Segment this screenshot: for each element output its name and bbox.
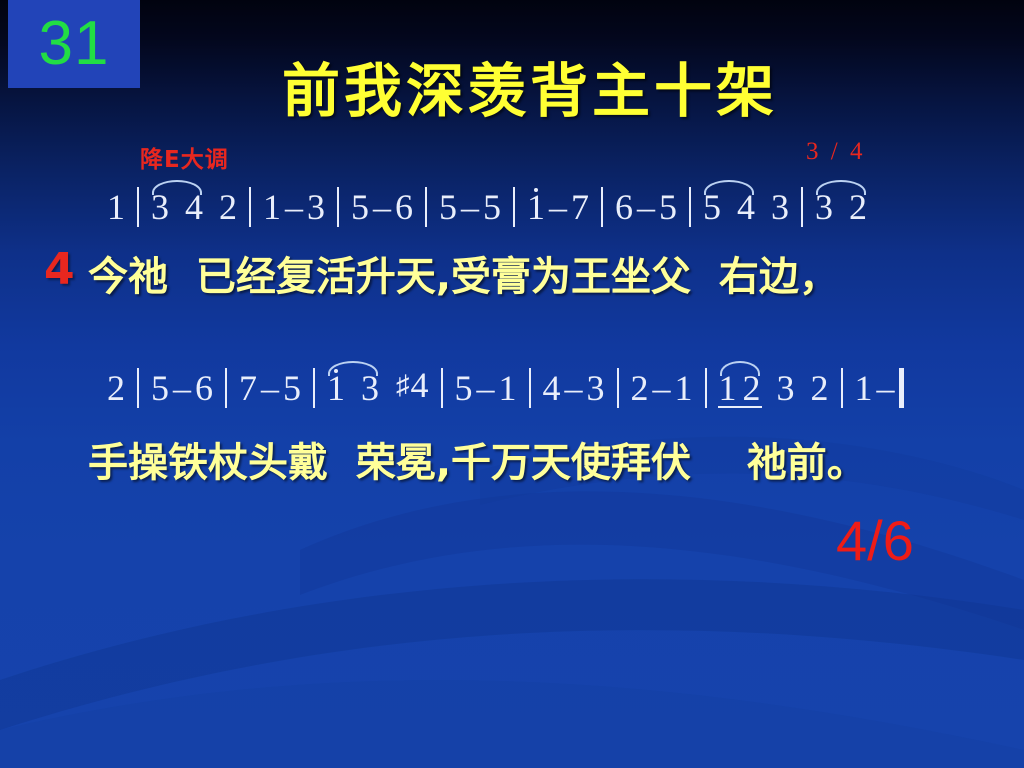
- note-sustain-dash: –: [652, 367, 672, 409]
- note-sustain-dash: –: [284, 186, 304, 228]
- sharp-accidental-icon: ♯: [395, 364, 411, 406]
- note-numeral: 2: [628, 367, 652, 409]
- lyrics-line-1: 今祂 已经复活升天,受膏为王坐父 右边，: [88, 244, 839, 302]
- barline: [705, 368, 707, 408]
- note-numeral: 4: [182, 186, 206, 228]
- note-numeral: 7: [236, 367, 260, 409]
- barline: [801, 187, 803, 227]
- measure: 6–5: [612, 186, 680, 228]
- time-signature-label: 3 / 4: [806, 138, 865, 166]
- note-sustain-dash: –: [476, 367, 496, 409]
- measure: 2–1: [628, 367, 696, 409]
- note-numeral: 5: [280, 367, 304, 409]
- note-sustain-dash: –: [260, 367, 280, 409]
- note-sustain-dash: –: [548, 186, 568, 228]
- note-numeral: 2: [216, 186, 240, 228]
- measure: 7–5: [236, 367, 304, 409]
- page-title: 前我深羡背主十架: [0, 44, 1024, 128]
- slur-group: 13: [324, 367, 382, 409]
- barline: [425, 187, 427, 227]
- measure: 5–1: [452, 367, 520, 409]
- note-numeral: 1: [496, 367, 520, 409]
- final-double-barline: [899, 368, 904, 408]
- note-numeral: 5: [348, 186, 372, 228]
- note-sustain-dash: –: [876, 367, 896, 409]
- barline: [249, 187, 251, 227]
- note-numeral: 6: [612, 186, 636, 228]
- slur-group: 32: [812, 186, 870, 228]
- note-numeral: 6: [192, 367, 216, 409]
- measure: 13♯4: [324, 364, 432, 409]
- note-numeral: 3: [812, 186, 836, 228]
- note-numeral: 2: [104, 367, 128, 409]
- note-numeral: 1: [324, 367, 348, 409]
- notation-line-1: 13421–35–65–51–76–554332: [0, 186, 1024, 228]
- measure: 5–5: [436, 186, 504, 228]
- note-numeral: 5: [656, 186, 680, 228]
- note-numeral: 2: [808, 367, 832, 409]
- barline: [313, 368, 315, 408]
- barline: [137, 368, 139, 408]
- octave-dot-icon: [334, 369, 338, 373]
- note-numeral: 5: [480, 186, 504, 228]
- barline: [689, 187, 691, 227]
- measure: 5–6: [348, 186, 416, 228]
- note-numeral: 1: [716, 367, 740, 409]
- measure: 4–3: [540, 367, 608, 409]
- measure: 342: [148, 186, 240, 228]
- note-sustain-dash: –: [460, 186, 480, 228]
- verse-number: 4: [44, 244, 75, 295]
- page-counter: 4/6: [836, 508, 914, 573]
- barline: [513, 187, 515, 227]
- octave-dot-icon: [534, 188, 538, 192]
- note-numeral: 6: [392, 186, 416, 228]
- note-numeral: 3: [768, 186, 792, 228]
- barline: [137, 187, 139, 227]
- barline: [601, 187, 603, 227]
- note-numeral: 4: [734, 186, 758, 228]
- note-numeral: 3: [304, 186, 328, 228]
- measure: 1232: [716, 367, 832, 409]
- slur-group: 34: [148, 186, 206, 228]
- note-numeral: 3: [148, 186, 172, 228]
- measure: 1–7: [524, 186, 592, 228]
- barline: [225, 368, 227, 408]
- barline: [529, 368, 531, 408]
- slur-group: 54: [700, 186, 758, 228]
- measure: 5–6: [148, 367, 216, 409]
- barline: [337, 187, 339, 227]
- lyrics-line-2: 手操铁杖头戴 荣冕,千万天使拜伏 祂前。: [88, 430, 867, 488]
- slur-group: 12: [716, 367, 764, 409]
- barline: [441, 368, 443, 408]
- measure: 1–: [852, 367, 896, 409]
- note-numeral: 3: [774, 367, 798, 409]
- note-sustain-dash: –: [372, 186, 392, 228]
- key-signature-label: 降E大调: [140, 140, 229, 174]
- note-numeral: 7: [568, 186, 592, 228]
- note-numeral: 1: [852, 367, 876, 409]
- note-numeral: 1: [260, 186, 284, 228]
- note-numeral: ♯4: [392, 364, 432, 409]
- beam-group: 12: [716, 367, 764, 409]
- note-numeral: 5: [436, 186, 460, 228]
- barline: [617, 368, 619, 408]
- barline: [841, 368, 843, 408]
- note-numeral: 3: [358, 367, 382, 409]
- note-numeral: 1: [104, 186, 128, 228]
- note-numeral: 3: [584, 367, 608, 409]
- notation-line-2: 25–67–513♯45–14–32–112321–: [0, 364, 1024, 409]
- note-numeral: 1: [524, 186, 548, 228]
- note-numeral: 1: [672, 367, 696, 409]
- note-numeral: 5: [452, 367, 476, 409]
- note-sustain-dash: –: [636, 186, 656, 228]
- measure: 543: [700, 186, 792, 228]
- note-numeral: 2: [740, 367, 764, 409]
- note-sustain-dash: –: [172, 367, 192, 409]
- measure: 1–3: [260, 186, 328, 228]
- note-sustain-dash: –: [564, 367, 584, 409]
- measure: 32: [812, 186, 870, 228]
- note-numeral: 5: [148, 367, 172, 409]
- note-numeral: 5: [700, 186, 724, 228]
- note-numeral: 4: [540, 367, 564, 409]
- note-numeral: 2: [846, 186, 870, 228]
- slide-canvas: 31 前我深羡背主十架 降E大调 3 / 4 13421–35–65–51–76…: [0, 0, 1024, 768]
